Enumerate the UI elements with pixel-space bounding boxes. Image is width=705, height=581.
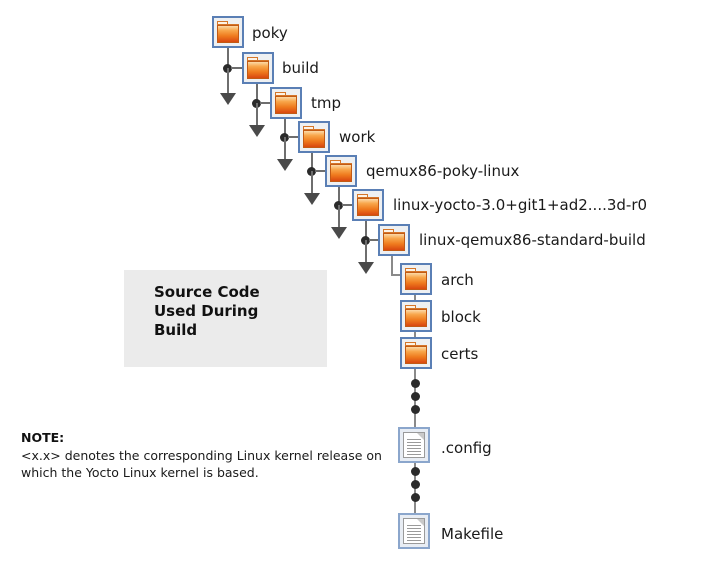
folder-icon[interactable] xyxy=(400,263,432,295)
folder-label: poky xyxy=(252,26,288,41)
arrowhead-linuxyocto xyxy=(358,262,374,274)
arrowhead-qemux86 xyxy=(331,227,347,239)
arrowhead-work xyxy=(304,193,320,205)
folder-label: qemux86-poky-linux xyxy=(366,164,519,179)
folder-icon[interactable] xyxy=(242,52,274,84)
folder-icon[interactable] xyxy=(270,87,302,119)
connector-work-tail xyxy=(311,171,313,195)
folder-label: linux-qemux86-standard-build xyxy=(419,233,646,248)
folder-icon[interactable] xyxy=(400,337,432,369)
arrowhead-build xyxy=(249,125,265,137)
diagram-canvas: pokybuildtmpworkqemux86-poky-linuxlinux-… xyxy=(0,0,705,581)
folder-label: build xyxy=(282,61,319,76)
connector-build-tail xyxy=(256,103,258,127)
note-body: <x.x> denotes the corresponding Linux ke… xyxy=(21,447,382,481)
arrowhead-tmp xyxy=(277,159,293,171)
folder-label: work xyxy=(339,130,375,145)
folder-icon[interactable] xyxy=(298,121,330,153)
folder-icon[interactable] xyxy=(378,224,410,256)
folder-label: certs xyxy=(441,347,478,362)
ellipsis-dot xyxy=(411,392,420,401)
connector-poky-tail xyxy=(227,68,229,95)
folder-icon[interactable] xyxy=(400,300,432,332)
folder-icon[interactable] xyxy=(352,189,384,221)
arrowhead-poky xyxy=(220,93,236,105)
connector-qemux86-tail xyxy=(338,205,340,229)
ellipsis-dot xyxy=(411,480,420,489)
folder-label: tmp xyxy=(311,96,341,111)
callout-label: Source Code Used During Build xyxy=(154,283,260,340)
folder-icon[interactable] xyxy=(325,155,357,187)
note-title: NOTE: xyxy=(21,430,64,445)
connector-tmp-tail xyxy=(284,137,286,161)
folder-icon[interactable] xyxy=(212,16,244,48)
file-icon[interactable] xyxy=(398,513,430,549)
ellipsis-dot xyxy=(411,493,420,502)
file-label: Makefile xyxy=(441,527,503,542)
connector-linuxyocto-tail xyxy=(365,240,367,264)
folder-label: arch xyxy=(441,273,474,288)
file-icon[interactable] xyxy=(398,427,430,463)
ellipsis-dot xyxy=(411,405,420,414)
ellipsis-dot xyxy=(411,467,420,476)
ellipsis-dot xyxy=(411,379,420,388)
file-label: .config xyxy=(441,441,492,456)
folder-label: block xyxy=(441,310,481,325)
folder-label: linux-yocto-3.0+git1+ad2....3d-r0 xyxy=(393,198,647,213)
